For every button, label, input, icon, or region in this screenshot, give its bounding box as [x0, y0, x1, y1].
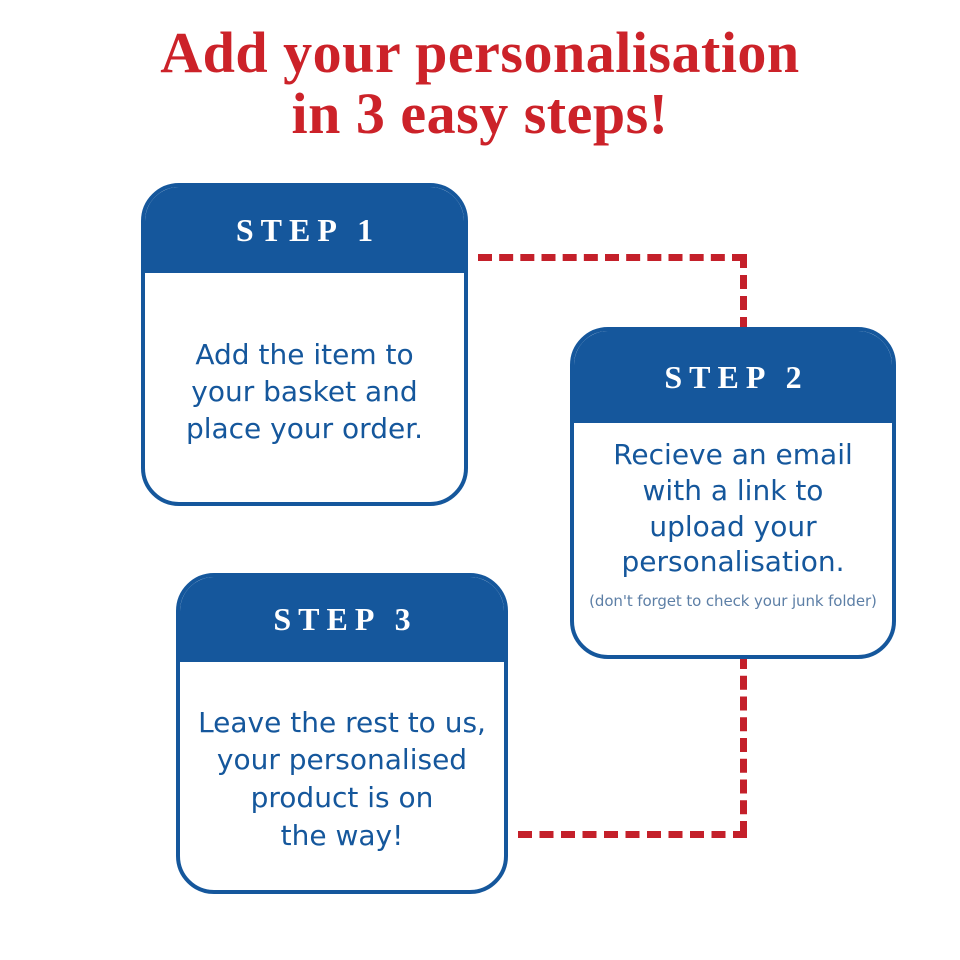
step-3-header: STEP 3 — [180, 577, 504, 662]
step-2-text: Recieve an email with a link to upload y… — [613, 437, 853, 580]
step-card-3: STEP 3 Leave the rest to us, your person… — [176, 573, 508, 894]
connector-step1-to-step2-horizontal — [478, 254, 746, 261]
infographic-canvas: Add your personalisation in 3 easy steps… — [0, 0, 960, 960]
step-2-body: Recieve an email with a link to upload y… — [574, 423, 892, 655]
step-1-header: STEP 1 — [145, 187, 464, 273]
step-2-note: (don't forget to check your junk folder) — [589, 592, 877, 610]
connector-step1-to-step2-vertical — [740, 254, 747, 331]
step-3-text: Leave the rest to us, your personalised … — [198, 704, 486, 854]
connector-step2-to-step3-vertical — [740, 655, 747, 835]
step-3-body: Leave the rest to us, your personalised … — [180, 662, 504, 890]
step-1-body: Add the item to your basket and place yo… — [145, 273, 464, 502]
step-2-header: STEP 2 — [574, 331, 892, 423]
connector-step2-to-step3-horizontal — [518, 831, 747, 838]
step-card-1: STEP 1 Add the item to your basket and p… — [141, 183, 468, 506]
step-1-text: Add the item to your basket and place yo… — [186, 337, 423, 448]
step-card-2: STEP 2 Recieve an email with a link to u… — [570, 327, 896, 659]
page-title: Add your personalisation in 3 easy steps… — [0, 22, 960, 145]
